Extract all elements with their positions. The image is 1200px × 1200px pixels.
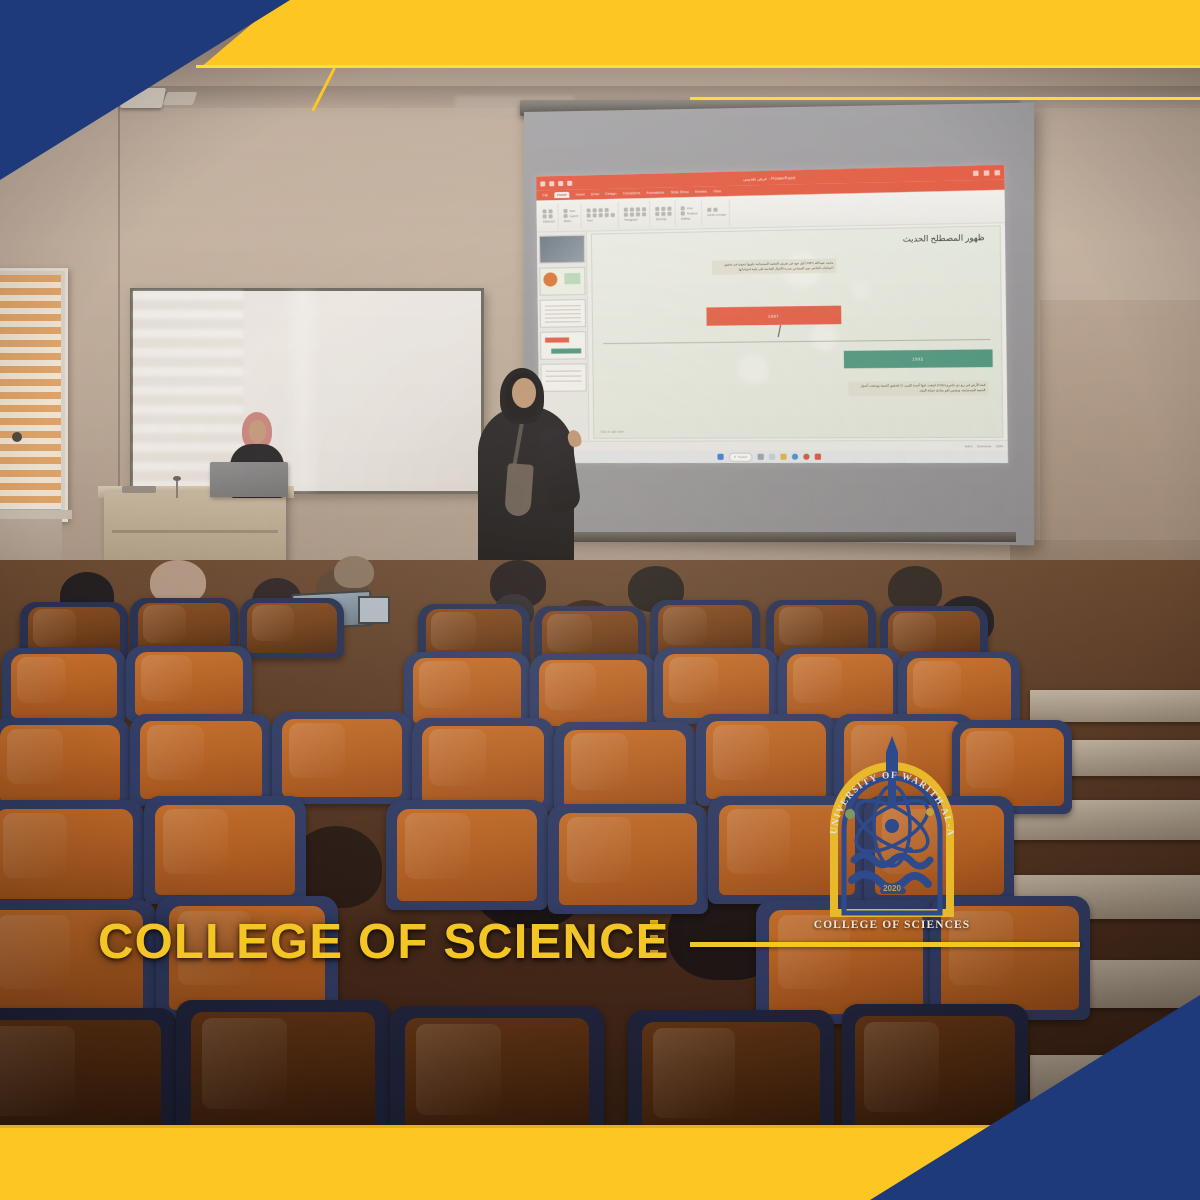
quick-access-toolbar[interactable]: [540, 180, 572, 186]
bullets-icon[interactable]: [624, 207, 628, 211]
find-label: Find: [687, 206, 693, 210]
auditorium-seat: [386, 800, 548, 910]
presenter-handbag: [504, 463, 534, 517]
slide-thumbnail[interactable]: [539, 235, 585, 264]
ribbon-group-drawing[interactable]: Drawing: [652, 200, 676, 227]
grow-font-icon[interactable]: [599, 208, 603, 212]
event-photograph: عرض تقديمي - PowerPoint File Home Insert…: [0, 0, 1200, 1200]
ribbon-group-acrobat[interactable]: Adobe Acrobat: [704, 199, 730, 226]
audience-head: [334, 556, 374, 588]
create-pdf-icon[interactable]: [707, 208, 711, 212]
arrange-icon[interactable]: [662, 206, 666, 210]
podium-object: [122, 486, 156, 493]
right-wall: [1040, 300, 1200, 580]
cut-icon[interactable]: [549, 209, 553, 213]
slide-connector-line: [778, 325, 781, 337]
numbering-icon[interactable]: [630, 207, 634, 211]
status-zoom-level[interactable]: 100%: [996, 444, 1004, 448]
slide-title: ظهور المصطلح الحديث: [592, 233, 985, 250]
search-placeholder: Search: [738, 455, 747, 459]
task-view-icon[interactable]: [758, 454, 764, 460]
indent-icon[interactable]: [636, 207, 640, 211]
auditorium-seat: [2, 648, 126, 724]
logo-minaret-icon: [886, 736, 898, 774]
format-painter-icon[interactable]: [549, 214, 553, 218]
logo-year: 2020: [883, 884, 901, 893]
font-color-icon[interactable]: [611, 212, 615, 216]
ribbon-group-slides[interactable]: New Layout Slides: [560, 202, 582, 229]
new-slide-label: New: [569, 208, 575, 212]
group-label-acrobat: Adobe Acrobat: [707, 213, 726, 217]
powerpoint-icon[interactable]: [803, 454, 809, 460]
window-with-orange-blind: [0, 268, 68, 522]
auditorium-seat: [654, 648, 778, 724]
bold-icon[interactable]: [587, 213, 591, 217]
paste-icon[interactable]: [543, 209, 547, 213]
file-explorer-icon[interactable]: [769, 454, 775, 460]
logo-caption: COLLEGE OF SCIENCES: [812, 919, 972, 931]
close-icon[interactable]: [995, 170, 1000, 175]
poster-canvas: عرض تقديمي - PowerPoint File Home Insert…: [0, 0, 1200, 1200]
align-center-icon[interactable]: [630, 212, 634, 216]
folder-icon[interactable]: [780, 454, 786, 460]
shape-outline-icon[interactable]: [662, 211, 666, 215]
status-bar: Notes Comments 100%: [539, 440, 1007, 451]
logo-electron: [926, 808, 934, 816]
tab-slide-show[interactable]: Slide Show: [670, 190, 688, 194]
page-title: COLLEGE OF SCIENCE: [98, 914, 670, 970]
tab-transitions[interactable]: Transitions: [623, 191, 641, 195]
tab-file[interactable]: File: [542, 193, 548, 197]
logo-electron: [845, 809, 855, 819]
notes-placeholder[interactable]: Click to add notes: [600, 430, 624, 434]
maximize-icon[interactable]: [984, 170, 989, 175]
shape-fill-icon[interactable]: [656, 211, 660, 215]
share-pdf-icon[interactable]: [713, 208, 717, 212]
redo-icon[interactable]: [558, 180, 563, 185]
window-controls[interactable]: [973, 170, 1000, 176]
shrink-font-icon[interactable]: [605, 208, 609, 212]
tab-draw[interactable]: Draw: [591, 192, 599, 196]
shapes-icon[interactable]: [656, 206, 660, 210]
font-family-selector[interactable]: [587, 208, 591, 212]
taskbar-search-input[interactable]: ⚲ Search: [729, 452, 753, 461]
projection-screen-weight-bar: [524, 532, 1016, 542]
ribbon-group-font[interactable]: Font: [584, 201, 620, 228]
new-slide-icon[interactable]: [563, 208, 567, 212]
save-icon[interactable]: [540, 181, 545, 186]
align-right-icon[interactable]: [636, 212, 640, 216]
line-spacing-icon[interactable]: [642, 207, 646, 211]
slide-thumbnail[interactable]: [539, 267, 585, 296]
copy-icon[interactable]: [543, 214, 547, 218]
auditorium-seat: [412, 718, 554, 812]
pdf-icon[interactable]: [815, 454, 821, 460]
wall-socket: [12, 432, 22, 442]
slide-paragraph-bottom: قمة الأرض في ريو دي جانيرو (1992) انبثقت…: [848, 381, 988, 396]
step: [1030, 690, 1200, 722]
shape-effects-icon[interactable]: [668, 211, 672, 215]
auditorium-seat: [548, 804, 708, 914]
slide-paragraph-top: محمد عبيدالله (1987) أول جهد في تعريف ال…: [712, 258, 837, 274]
slide-year-tag-red: 1987: [706, 306, 841, 326]
auditorium-seat: [144, 796, 306, 904]
auditorium-seat: [130, 714, 272, 806]
group-label-font: Font: [587, 217, 615, 222]
powerpoint-window: عرض تقديمي - PowerPoint File Home Insert…: [536, 165, 1008, 463]
group-label-slides: Slides: [564, 218, 578, 222]
tab-design[interactable]: Design: [605, 192, 616, 196]
podium: [104, 492, 286, 564]
underline-icon[interactable]: [599, 213, 603, 217]
window-sill: [0, 510, 72, 519]
slide-canvas[interactable]: ظهور المصطلح الحديث محمد عبيدالله (1987)…: [591, 225, 1003, 438]
logo-mark: UNIVERSITY OF WARITH AL-ANBIYA 2020: [812, 728, 972, 933]
group-label-drawing: Drawing: [656, 216, 672, 220]
undo-icon[interactable]: [549, 181, 554, 186]
ceiling-vent-secondary: [163, 92, 198, 105]
window-blind: [0, 275, 61, 515]
whiteboard: [130, 288, 484, 494]
quick-styles-icon[interactable]: [668, 206, 672, 210]
font-size-selector[interactable]: [593, 208, 597, 212]
align-left-icon[interactable]: [624, 212, 628, 216]
shadow-icon[interactable]: [605, 213, 609, 217]
ribbon-group-clipboard[interactable]: Clipboard: [539, 203, 558, 229]
replace-icon[interactable]: [681, 211, 685, 215]
slide-year-tag-green: 1992: [844, 349, 993, 368]
slide-thumbnail-current[interactable]: [540, 331, 586, 360]
tab-home[interactable]: Home: [554, 192, 570, 198]
auditorium-seat: [126, 646, 252, 722]
whiteboard-glare-streak: [283, 291, 323, 491]
status-notes[interactable]: Notes: [965, 444, 973, 448]
auditorium-seat: [778, 648, 902, 724]
projection-screen: عرض تقديمي - PowerPoint File Home Insert…: [524, 103, 1034, 546]
presenter-hijab-edge: [500, 368, 544, 424]
justify-icon[interactable]: [642, 212, 646, 216]
auditorium-seat: [272, 712, 412, 804]
university-logo: UNIVERSITY OF WARITH AL-ANBIYA 2020 COLL…: [812, 728, 972, 933]
group-label-editing: Editing: [681, 216, 698, 220]
moderator-face: [249, 420, 266, 443]
group-label-paragraph: Paragraph: [624, 217, 646, 222]
ribbon-group-paragraph[interactable]: Paragraph: [621, 201, 651, 228]
top-right-yellow-rule: [690, 97, 1200, 100]
headline-rule: [690, 942, 1080, 947]
find-icon[interactable]: [681, 206, 685, 210]
slide-thumbnail[interactable]: [540, 299, 586, 328]
podium-laptop: [210, 462, 288, 497]
auditorium-seat: [0, 800, 144, 908]
auditorium-seat: [240, 598, 344, 658]
replace-label: Replace: [687, 211, 698, 215]
tab-animations[interactable]: Animations: [646, 191, 664, 195]
chrome-icon[interactable]: [792, 454, 798, 460]
bottom-band-rule: [0, 1125, 1012, 1128]
start-icon[interactable]: [717, 454, 723, 460]
podium-trim: [112, 530, 278, 533]
italic-icon[interactable]: [593, 213, 597, 217]
slide-divider: [603, 339, 990, 344]
windows-taskbar[interactable]: ⚲ Search: [540, 450, 1008, 463]
auditorium-seat: [0, 718, 130, 810]
podium-microphone: [176, 480, 178, 498]
group-label-clipboard: Clipboard: [543, 219, 555, 223]
top-band-rule: [196, 65, 1200, 68]
audience-laptop-secondary: [358, 596, 390, 624]
auditorium-seat: [554, 722, 696, 816]
layout-label: Layout: [570, 213, 578, 217]
logo-atom-nucleus: [885, 819, 899, 833]
minimize-icon[interactable]: [973, 170, 978, 175]
ribbon-group-editing[interactable]: Find Replace Editing: [678, 199, 702, 226]
tab-review[interactable]: Review: [695, 190, 707, 194]
tab-view[interactable]: View: [713, 189, 721, 193]
tab-insert[interactable]: Insert: [576, 192, 585, 196]
search-icon: ⚲: [734, 455, 736, 459]
status-comments[interactable]: Comments: [977, 444, 992, 448]
layout-icon[interactable]: [564, 213, 568, 217]
